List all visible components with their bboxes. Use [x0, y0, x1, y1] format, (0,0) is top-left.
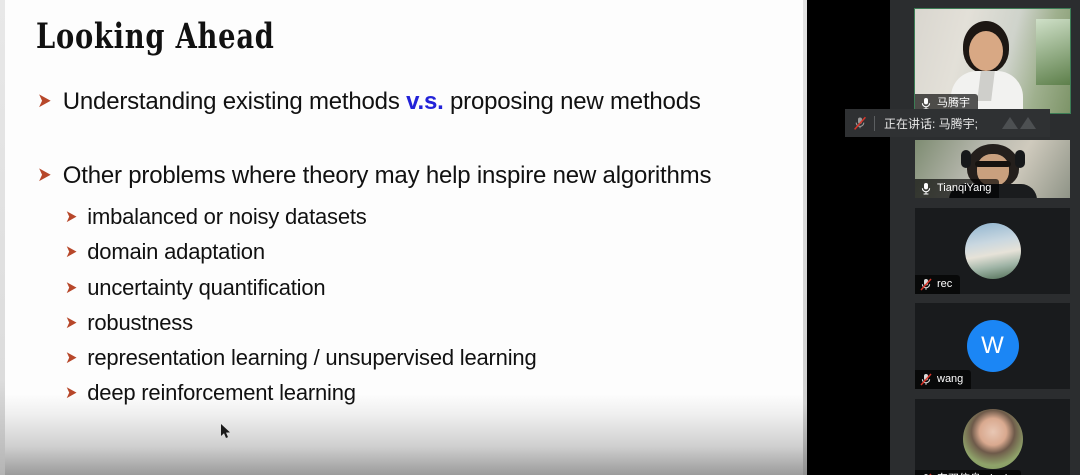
bullet-marker-icon: ➤	[65, 314, 77, 331]
avatar-initial: W	[967, 320, 1019, 372]
avatar	[963, 409, 1023, 469]
bullet-item: ➤ Understanding existing methods v.s. pr…	[36, 88, 776, 116]
participant-badge: TianqiYang	[915, 179, 999, 198]
active-speaker-text: 正在讲话: 马腾宇;	[884, 115, 978, 132]
shared-slide[interactable]: Looking Ahead ➤ Understanding existing m…	[0, 0, 807, 475]
slide-body: ➤ Understanding existing methods v.s. pr…	[36, 88, 776, 416]
bullet-text-accent: v.s.	[406, 88, 443, 115]
bullet-marker-icon: ➤	[65, 243, 77, 260]
participant-name: rec	[937, 278, 952, 291]
sub-bullet-text: domain adaptation	[87, 240, 265, 264]
bullet-text-part: Understanding existing methods	[63, 88, 406, 115]
slide-left-edge	[0, 0, 5, 475]
active-speaker-banner: 正在讲话: 马腾宇;	[845, 109, 1050, 137]
sub-bullet-text: uncertainty quantification	[87, 276, 325, 300]
mic-muted-icon	[920, 278, 932, 291]
bullet-marker-icon: ➤	[37, 165, 51, 185]
mouse-cursor-icon	[221, 424, 232, 439]
participant-name: TianqiYang	[937, 182, 991, 195]
participant-badge: 东双信息 qinqin	[915, 470, 1021, 475]
sub-bullet-item: ➤ robustness	[64, 311, 776, 335]
bullet-marker-icon: ➤	[65, 349, 77, 366]
participant-tile[interactable]: 东双信息 qinqin	[915, 399, 1070, 475]
participant-tile[interactable]: TianqiYang	[915, 140, 1070, 198]
sub-bullet-text: robustness	[87, 311, 193, 335]
participant-tile[interactable]: 马腾宇	[915, 9, 1070, 113]
slide-title: Looking Ahead	[36, 16, 275, 57]
participant-tile[interactable]: W wang	[915, 303, 1070, 389]
participant-name: wang	[937, 373, 963, 386]
mic-muted-icon	[853, 116, 867, 131]
bullet-text: Understanding existing methods v.s. prop…	[63, 88, 701, 116]
participant-badge: rec	[915, 275, 960, 294]
bullet-text-part: proposing new methods	[444, 88, 701, 115]
sub-bullet-item: ➤ imbalanced or noisy datasets	[64, 205, 776, 229]
participant-badge: wang	[915, 370, 971, 389]
mic-on-icon	[920, 182, 932, 195]
letterbox-gap	[807, 0, 890, 475]
sub-bullet-item: ➤ uncertainty quantification	[64, 276, 776, 300]
bullet-marker-icon: ➤	[65, 208, 77, 225]
participant-filmstrip[interactable]: 马腾宇 正在讲话: 马腾宇;	[890, 0, 1080, 475]
sub-bullet-list: ➤ imbalanced or noisy datasets ➤ domain …	[36, 205, 776, 405]
sub-bullet-item: ➤ deep reinforcement learning	[64, 381, 776, 405]
sub-bullet-text: imbalanced or noisy datasets	[87, 205, 366, 229]
sub-bullet-text: deep reinforcement learning	[87, 381, 356, 405]
double-chevron-icon[interactable]	[998, 115, 1042, 131]
bullet-item: ➤ Other problems where theory may help i…	[36, 162, 776, 190]
sub-bullet-text: representation learning / unsupervised l…	[87, 346, 536, 370]
sub-bullet-item: ➤ domain adaptation	[64, 240, 776, 264]
bullet-marker-icon: ➤	[65, 279, 77, 296]
avatar	[965, 223, 1021, 279]
bullet-text: Other problems where theory may help ins…	[63, 162, 712, 190]
bullet-marker-icon: ➤	[37, 91, 51, 111]
screen-share-meeting-view: Looking Ahead ➤ Understanding existing m…	[0, 0, 1080, 475]
banner-divider	[874, 116, 875, 131]
sub-bullet-item: ➤ representation learning / unsupervised…	[64, 346, 776, 370]
mic-muted-icon	[920, 373, 932, 386]
participant-tile[interactable]: rec	[915, 208, 1070, 294]
bullet-marker-icon: ➤	[65, 384, 77, 401]
